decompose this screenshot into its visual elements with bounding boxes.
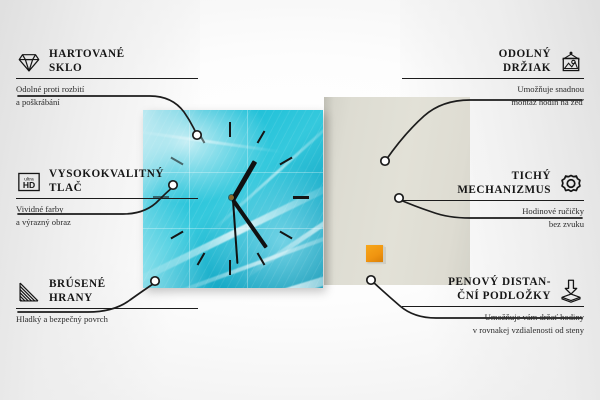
wall-hanger-icon bbox=[558, 49, 584, 75]
feature-tempered-glass: HARTOVANÉ SKLO Odolné proti rozbití a po… bbox=[16, 48, 198, 108]
feature-description: Hladký a bezpečný povrch bbox=[16, 313, 198, 325]
feature-high-quality-print: ultra HD VYSOKOKVALITNÝ TLAČ Vividné far… bbox=[16, 168, 198, 228]
feature-description: Hodinové ručičky bez zvuku bbox=[402, 205, 584, 229]
clock-tick-3 bbox=[293, 196, 309, 199]
feature-description: Odolné proti rozbití a poškrábání bbox=[16, 83, 198, 107]
foam-spacer-pad bbox=[366, 245, 383, 262]
foam-spacer-icon bbox=[558, 277, 584, 303]
feature-divider bbox=[402, 78, 584, 79]
beveled-edge-icon bbox=[16, 279, 42, 305]
feature-divider bbox=[16, 308, 198, 309]
feature-description: Umožňuje vám držať hodiny v rovnakej vzd… bbox=[402, 311, 584, 335]
feature-silent-mechanism: TICHÝ MECHANIZMUS Hodinové ručičky bez z… bbox=[402, 170, 584, 230]
feature-divider bbox=[16, 78, 198, 79]
clock-center-cap bbox=[229, 195, 234, 200]
feature-title: BRÚSENÉ HRANY bbox=[49, 278, 106, 305]
feature-header: PENOVÝ DISTAN- ČNÍ PODLOŽKY bbox=[402, 276, 584, 303]
diamond-icon bbox=[16, 49, 42, 75]
feature-beveled-edges: BRÚSENÉ HRANY Hladký a bezpečný povrch bbox=[16, 278, 198, 326]
feature-foam-spacers: PENOVÝ DISTAN- ČNÍ PODLOŽKY Umožňuje vám… bbox=[402, 276, 584, 336]
feature-description: Umožňuje snadnou montáž hodin na zeď bbox=[402, 83, 584, 107]
feature-title: VYSOKOKVALITNÝ TLAČ bbox=[49, 168, 164, 195]
feature-title: PENOVÝ DISTAN- ČNÍ PODLOŽKY bbox=[448, 276, 551, 303]
ultra-hd-icon: ultra HD bbox=[16, 169, 42, 195]
feature-divider bbox=[402, 306, 584, 307]
gear-icon bbox=[558, 171, 584, 197]
feature-title: ODOLNÝ DRŽIAK bbox=[499, 48, 551, 75]
feature-divider bbox=[402, 200, 584, 201]
feature-durable-hanger: ODOLNÝ DRŽIAK Umožňuje snadnou montáž ho… bbox=[402, 48, 584, 108]
feature-header: TICHÝ MECHANIZMUS bbox=[402, 170, 584, 197]
clock-grid-line bbox=[247, 110, 248, 288]
feature-divider bbox=[16, 198, 198, 199]
feature-title: TICHÝ MECHANIZMUS bbox=[457, 170, 551, 197]
svg-text:HD: HD bbox=[23, 180, 35, 190]
feature-header: ODOLNÝ DRŽIAK bbox=[402, 48, 584, 75]
feature-description: Vividné farby a výrazný obraz bbox=[16, 203, 198, 227]
infographic-canvas: HARTOVANÉ SKLO Odolné proti rozbití a po… bbox=[0, 0, 600, 400]
feature-title: HARTOVANÉ SKLO bbox=[49, 48, 125, 75]
feature-header: BRÚSENÉ HRANY bbox=[16, 278, 198, 305]
feature-header: ultra HD VYSOKOKVALITNÝ TLAČ bbox=[16, 168, 198, 195]
clock-tick-12 bbox=[229, 122, 231, 137]
clock-tick-6 bbox=[229, 260, 231, 275]
feature-header: HARTOVANÉ SKLO bbox=[16, 48, 198, 75]
